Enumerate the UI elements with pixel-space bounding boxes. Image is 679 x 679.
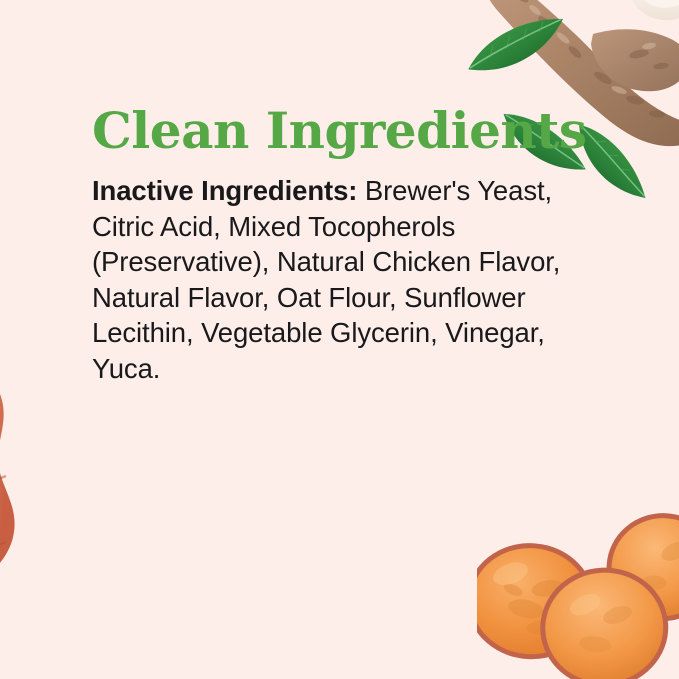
ingredients-paragraph: Inactive Ingredients: Brewer's Yeast, Ci… [92, 173, 572, 386]
inactive-ingredients-list: Brewer's Yeast, Citric Acid, Mixed Tocop… [92, 175, 560, 384]
clean-ingredients-panel: Clean Ingredients Inactive Ingredients: … [0, 0, 679, 679]
sweet-potato-slices-decoration [477, 511, 679, 679]
text-block: Clean Ingredients Inactive Ingredients: … [92, 104, 572, 386]
sweet-potato-whole-decoration [0, 350, 64, 600]
inactive-ingredients-label: Inactive Ingredients: [92, 175, 357, 206]
page-title: Clean Ingredients [92, 104, 572, 157]
